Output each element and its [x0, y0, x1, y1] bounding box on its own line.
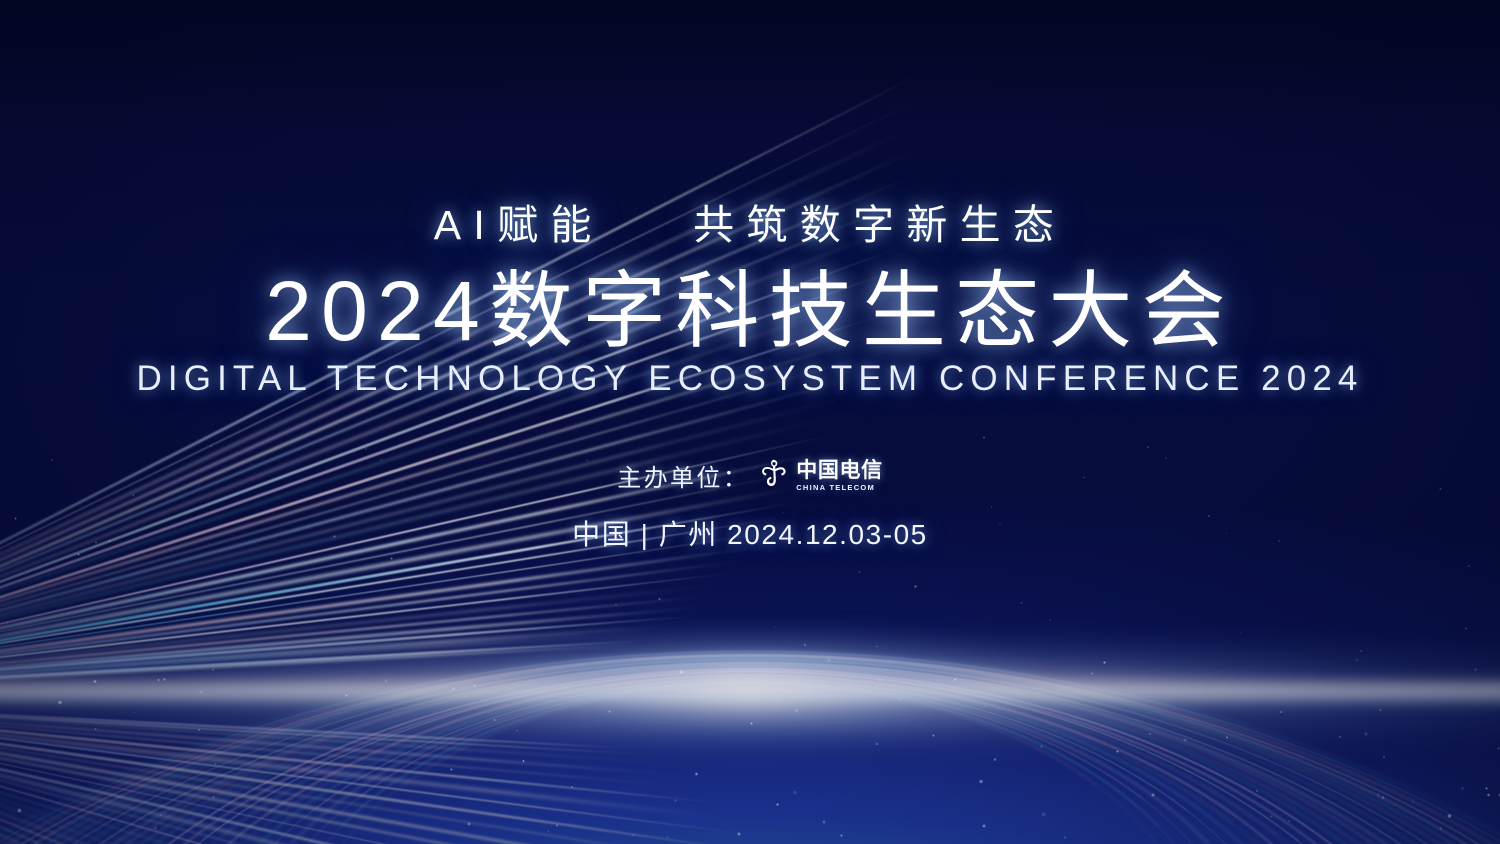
- host-label: 主办单位：: [617, 458, 749, 493]
- sponsor-name-cn: 中国电信: [796, 460, 883, 481]
- banner-content: AI赋能 共筑数字新生态 2024数字科技生态大会 DIGITAL TECHNO…: [0, 0, 1500, 553]
- china-telecom-swirl-icon: [759, 457, 789, 494]
- tagline-part2: 共筑数字新生态: [693, 202, 1066, 248]
- center-hotspot-glow: [440, 628, 1060, 748]
- event-location-date: 中国 | 广州 2024.12.03-05: [0, 513, 1500, 553]
- tagline-part1: AI赋能: [434, 202, 604, 248]
- date-range: 2024.12.03-05: [727, 519, 928, 550]
- conference-banner: AI赋能 共筑数字新生态 2024数字科技生态大会 DIGITAL TECHNO…: [0, 0, 1500, 844]
- host-line: 主办单位： 中国电信 CHINA TELECOM: [0, 457, 1500, 494]
- page-title: 2024数字科技生态大会: [0, 269, 1500, 353]
- location-city: 广州: [659, 519, 718, 550]
- sponsor-name-en: CHINA TELECOM: [796, 484, 875, 492]
- horizon-glow: [0, 620, 1500, 770]
- tagline: AI赋能 共筑数字新生态: [0, 204, 1500, 247]
- light-streaks-upper-left: [0, 690, 920, 691]
- page-subtitle: DIGITAL TECHNOLOGY ECOSYSTEM CONFERENCE …: [0, 359, 1500, 399]
- sponsor-logo: 中国电信 CHINA TELECOM: [759, 457, 883, 494]
- sponsor-wordmark: 中国电信 CHINA TELECOM: [796, 460, 883, 492]
- location-separator: |: [641, 519, 650, 550]
- light-streaks-lower-left: [0, 700, 920, 701]
- location-country: 中国: [572, 519, 631, 550]
